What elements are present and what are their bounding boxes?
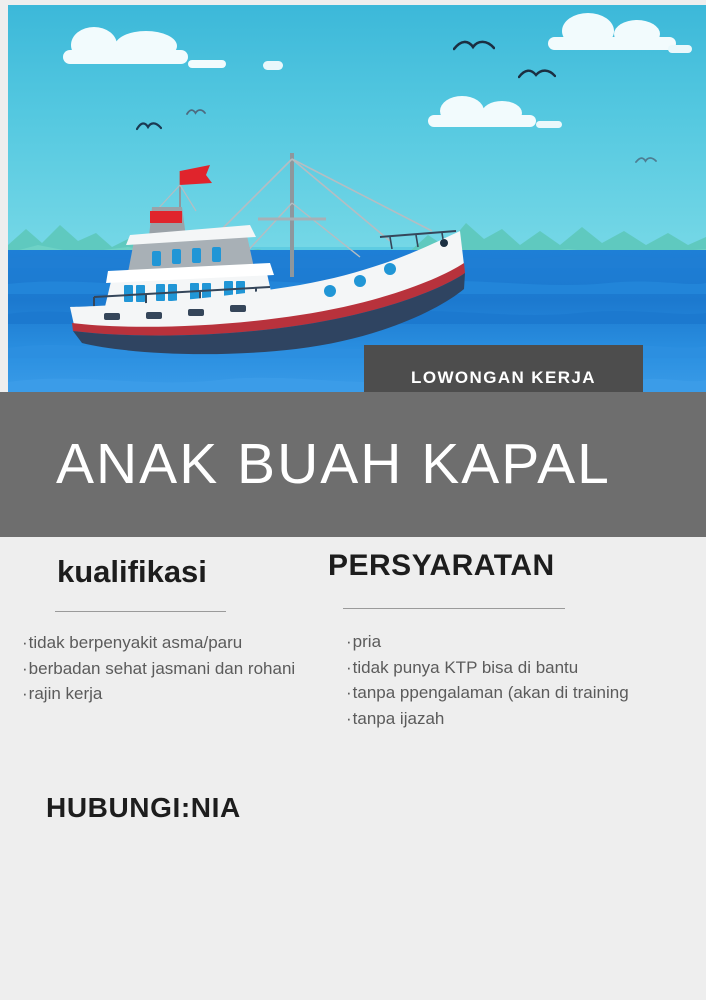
list-item: tidak punya KTP bisa di bantu: [346, 655, 678, 681]
bird-icon: [136, 120, 162, 132]
qualifications-heading: kualifikasi: [18, 555, 318, 589]
requirements-divider: [343, 608, 565, 609]
bird-icon: [186, 107, 206, 117]
page-title: ANAK BUAH KAPAL: [0, 436, 611, 493]
requirements-heading: PERSYARATAN: [328, 549, 678, 582]
vacancy-badge: LOWONGAN KERJA: [364, 345, 643, 395]
cloud-icon: [188, 60, 226, 68]
list-item: tanpa ppengalaman (akan di training: [346, 680, 678, 706]
cloud-icon: [63, 50, 188, 64]
cloud-icon: [668, 45, 692, 53]
hero-illustration: LOWONGAN KERJA: [8, 5, 706, 395]
job-poster: LOWONGAN KERJA ANAK BUAH KAPAL kualifika…: [0, 0, 706, 1000]
cloud-icon: [428, 115, 536, 127]
vacancy-badge-label: LOWONGAN KERJA: [411, 368, 596, 388]
list-item: tidak berpenyakit asma/paru: [22, 630, 318, 656]
list-item: pria: [346, 629, 678, 655]
contact-label: HUBUNGI:NIA: [46, 792, 241, 824]
cloud-icon: [548, 37, 676, 50]
bird-icon: [518, 67, 556, 82]
cloud-icon: [263, 61, 283, 70]
qualifications-column: kualifikasi tidak berpenyakit asma/paru …: [18, 555, 318, 707]
list-item: rajin kerja: [22, 681, 318, 707]
list-item: tanpa ijazah: [346, 706, 678, 732]
requirements-column: PERSYARATAN pria tidak punya KTP bisa di…: [328, 549, 678, 731]
bird-icon: [635, 155, 657, 165]
bird-icon: [453, 38, 495, 54]
list-item: berbadan sehat jasmani dan rohani: [22, 656, 318, 682]
cloud-icon: [536, 121, 562, 128]
qualifications-divider: [55, 611, 226, 612]
requirements-list: pria tidak punya KTP bisa di bantu tanpa…: [328, 629, 678, 731]
qualifications-list: tidak berpenyakit asma/paru berbadan seh…: [18, 630, 318, 707]
title-band: ANAK BUAH KAPAL: [0, 392, 706, 537]
fishing-boat-illustration: [60, 145, 480, 375]
content-area: kualifikasi tidak berpenyakit asma/paru …: [0, 537, 706, 1000]
